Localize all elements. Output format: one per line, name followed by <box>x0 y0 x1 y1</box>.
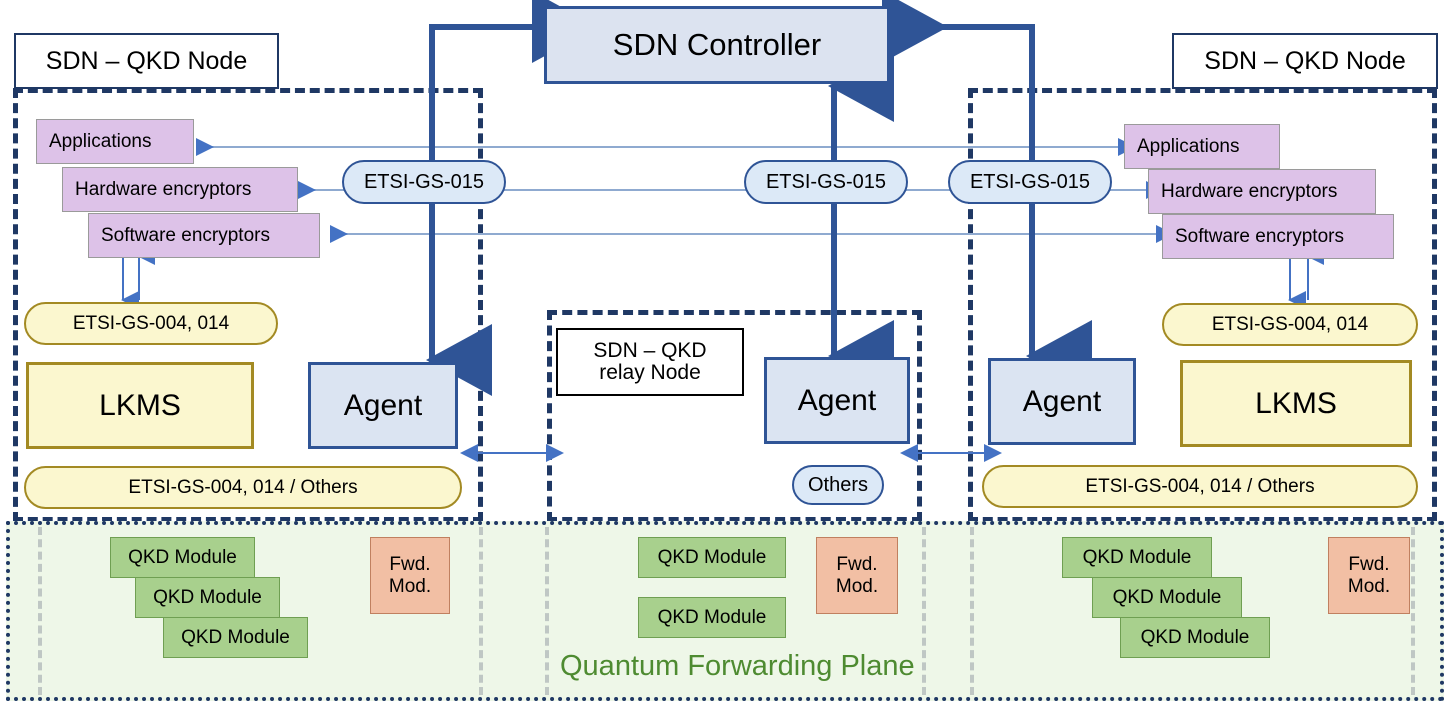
plane-separator-3 <box>545 527 549 695</box>
right-applications-box[interactable]: Applications <box>1124 124 1280 169</box>
sdn-controller-box[interactable]: SDN Controller <box>544 6 890 84</box>
plane-separator-2 <box>479 527 483 695</box>
left-software-encryptors-box[interactable]: Software encryptors <box>88 213 320 258</box>
right-etsi-004-014-others-pill[interactable]: ETSI-GS-004, 014 / Others <box>982 465 1418 508</box>
fwd-module-relay-line1: Fwd. <box>836 554 877 576</box>
left-controller-link-horizontal <box>429 24 539 30</box>
fwd-module-left-line2: Mod. <box>389 576 431 598</box>
fwd-module-right[interactable]: Fwd. Mod. <box>1328 537 1410 614</box>
fwd-module-left[interactable]: Fwd. Mod. <box>370 537 450 614</box>
qkd-module-left-1[interactable]: QKD Module <box>110 537 255 578</box>
left-agent-box[interactable]: Agent <box>308 362 458 449</box>
plane-separator-5 <box>970 527 974 695</box>
plane-separator-1 <box>38 527 42 695</box>
right-hardware-encryptors-box[interactable]: Hardware encryptors <box>1148 169 1376 214</box>
fwd-module-left-line1: Fwd. <box>389 554 430 576</box>
right-software-encryptors-box[interactable]: Software encryptors <box>1162 214 1394 259</box>
right-etsi-gs-015-pill[interactable]: ETSI-GS-015 <box>948 160 1112 204</box>
diagram-canvas: Quantum Forwarding Plane QKD Module QKD … <box>0 0 1450 709</box>
right-etsi-004-014-pill[interactable]: ETSI-GS-004, 014 <box>1162 303 1418 346</box>
left-etsi-004-014-pill[interactable]: ETSI-GS-004, 014 <box>24 302 278 345</box>
quantum-plane-label: Quantum Forwarding Plane <box>560 650 915 683</box>
relay-node-label: SDN – QKD relay Node <box>556 328 744 396</box>
relay-etsi-gs-015-pill[interactable]: ETSI-GS-015 <box>744 160 908 204</box>
plane-separator-4 <box>922 527 926 695</box>
qkd-module-left-3[interactable]: QKD Module <box>163 617 308 658</box>
relay-controller-link-vertical <box>831 90 837 358</box>
qkd-module-left-2[interactable]: QKD Module <box>135 577 280 618</box>
relay-node-label-line2: relay Node <box>593 362 706 384</box>
qkd-module-right-2[interactable]: QKD Module <box>1092 577 1242 618</box>
right-lkms-box[interactable]: LKMS <box>1180 360 1412 447</box>
right-agent-box[interactable]: Agent <box>988 358 1136 445</box>
fwd-module-right-line2: Mod. <box>1348 576 1390 598</box>
right-controller-link-horizontal <box>896 24 1035 30</box>
left-lkms-box[interactable]: LKMS <box>26 362 254 449</box>
qkd-module-relay-1[interactable]: QKD Module <box>638 537 786 578</box>
left-node-label: SDN – QKD Node <box>14 33 279 89</box>
qkd-module-right-3[interactable]: QKD Module <box>1120 617 1270 658</box>
relay-others-pill[interactable]: Others <box>792 465 884 505</box>
qkd-module-relay-2[interactable]: QKD Module <box>638 597 786 638</box>
relay-node-label-line1: SDN – QKD <box>593 340 706 362</box>
left-applications-box[interactable]: Applications <box>36 119 194 164</box>
fwd-module-relay-line2: Mod. <box>836 576 878 598</box>
fwd-module-relay[interactable]: Fwd. Mod. <box>816 537 898 614</box>
left-hardware-encryptors-box[interactable]: Hardware encryptors <box>62 167 298 212</box>
qkd-module-right-1[interactable]: QKD Module <box>1062 537 1212 578</box>
plane-separator-6 <box>1411 527 1415 695</box>
fwd-module-right-line1: Fwd. <box>1348 554 1389 576</box>
left-etsi-gs-015-pill[interactable]: ETSI-GS-015 <box>342 160 506 204</box>
relay-agent-box[interactable]: Agent <box>764 357 910 444</box>
left-etsi-004-014-others-pill[interactable]: ETSI-GS-004, 014 / Others <box>24 466 462 509</box>
right-node-label: SDN – QKD Node <box>1172 33 1438 89</box>
